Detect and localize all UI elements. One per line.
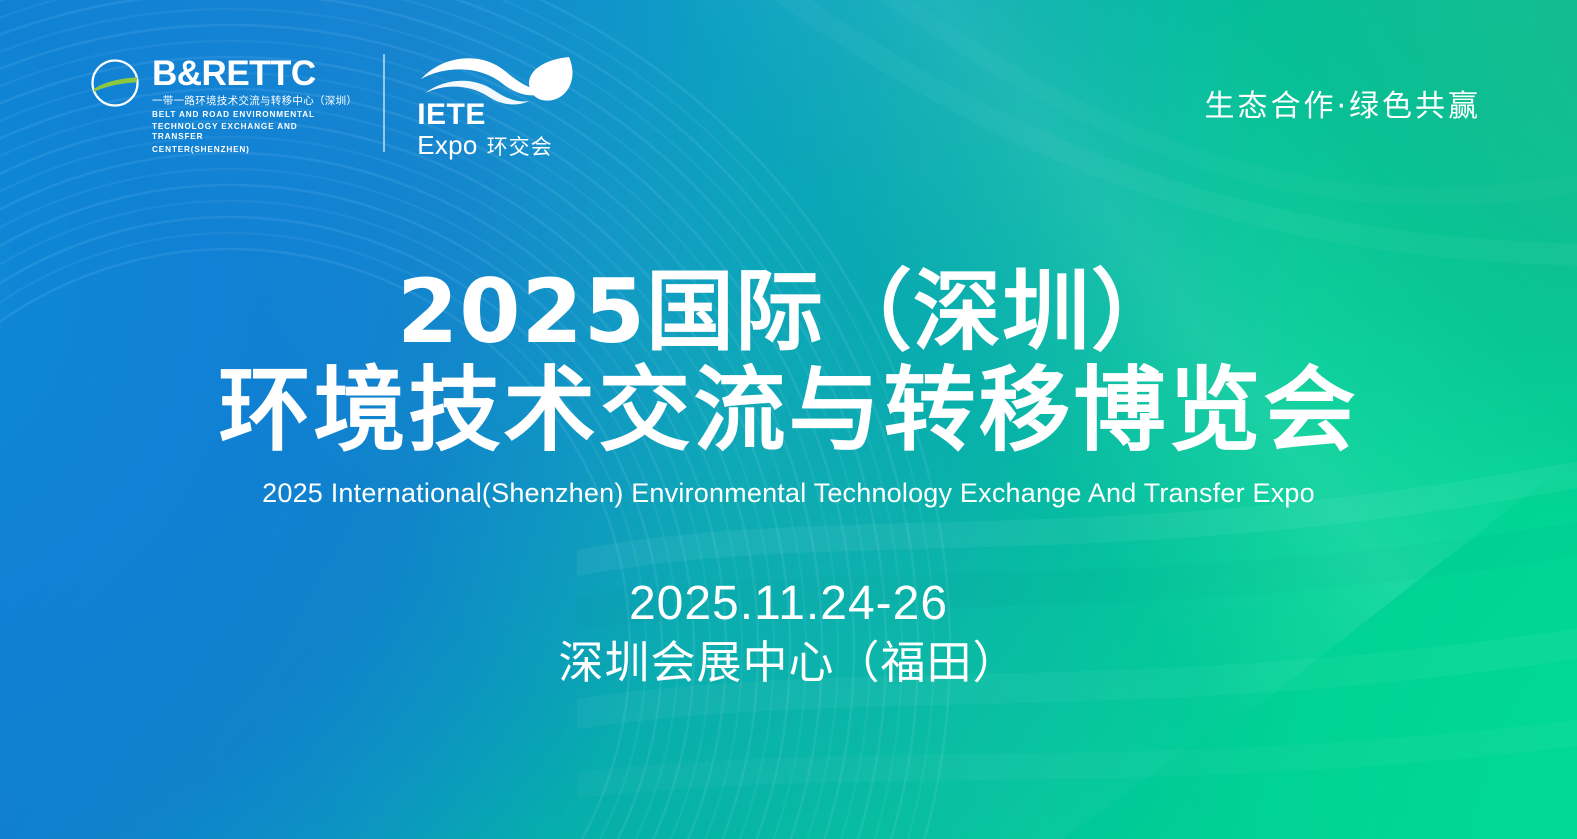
event-venue: 深圳会展中心（福田） (558, 635, 1018, 691)
iete-expo-cn: 环交会 (487, 132, 553, 162)
globe-with-band-icon (88, 56, 142, 115)
iete-expo-logo[interactable]: IETE Expo 环交会 (413, 53, 579, 153)
brettc-acronym: B&RETTC (152, 54, 357, 94)
brettc-name-en-line2: TECHNOLOGY EXCHANGE AND TRANSFER (152, 122, 352, 143)
brettc-logo[interactable]: B&RETTC 一带一路环境技术交流与转移中心（深圳） BELT AND ROA… (88, 54, 385, 152)
brettc-name-en-line3: CENTER(SHENZHEN) (152, 145, 352, 155)
brettc-text-block: B&RETTC 一带一路环境技术交流与转移中心（深圳） BELT AND ROA… (152, 54, 357, 156)
iete-wordmark: IETE Expo 环交会 (417, 99, 552, 162)
iete-subline: Expo 环交会 (417, 130, 552, 162)
event-date: 2025.11.24-26 (629, 575, 948, 633)
logo-group: B&RETTC 一带一路环境技术交流与转移中心（深圳） BELT AND ROA… (88, 53, 579, 153)
brettc-name-en-line1: BELT AND ROAD ENVIRONMENTAL (152, 110, 352, 120)
event-title-cn-line1: 2025国际（深圳） (397, 263, 1180, 361)
poster-main: 2025国际（深圳） 环境技术交流与转移博览会 2025 Internation… (0, 205, 1577, 691)
iete-acronym: IETE (417, 98, 486, 131)
iete-expo-word: Expo (417, 130, 477, 160)
event-title-cn-line2: 环境技术交流与转移博览会 (218, 361, 1358, 461)
poster-header: B&RETTC 一带一路环境技术交流与转移中心（深圳） BELT AND ROA… (0, 0, 1577, 205)
brettc-name-cn: 一带一路环境技术交流与转移中心（深圳） (152, 95, 357, 108)
event-tagline: 生态合作·绿色共赢 (1204, 81, 1481, 125)
event-title-en: 2025 International(Shenzhen) Environment… (262, 475, 1315, 511)
event-poster: B&RETTC 一带一路环境技术交流与转移中心（深圳） BELT AND ROA… (0, 0, 1577, 839)
